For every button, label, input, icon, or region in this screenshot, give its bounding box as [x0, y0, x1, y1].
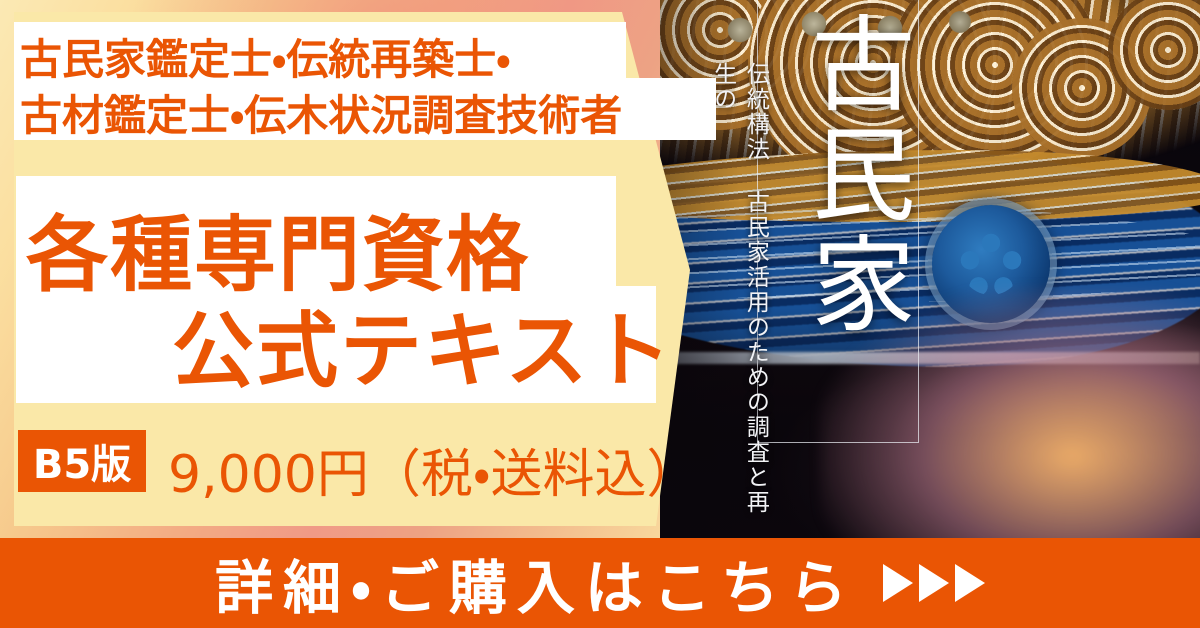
subheading-line1: 古民家鑑定士・伝統再築士・ — [20, 26, 511, 87]
headline-line2: 公式テキスト — [172, 284, 674, 403]
promo-banner[interactable]: 古民家 伝統構法 古民家活用のための調査と再生の 古民家鑑定士・伝統再築士・ 古… — [0, 0, 1200, 628]
chevron-right-icon — [919, 564, 949, 602]
subheading-line2: 古材鑑定士・伝木状況調査技術者 — [20, 82, 622, 143]
cta-label: 詳細・ご購入はこちら — [215, 541, 857, 625]
chevron-right-icon — [955, 564, 985, 602]
cta-bar[interactable]: 詳細・ご購入はこちら — [0, 538, 1200, 628]
cta-arrow-group — [883, 564, 985, 602]
size-badge: B5版 — [18, 430, 146, 492]
price-text: 9,000円（税・送料込） — [168, 432, 699, 507]
chevron-right-icon — [883, 564, 913, 602]
cover-title-text: 古民家 — [762, 10, 912, 340]
